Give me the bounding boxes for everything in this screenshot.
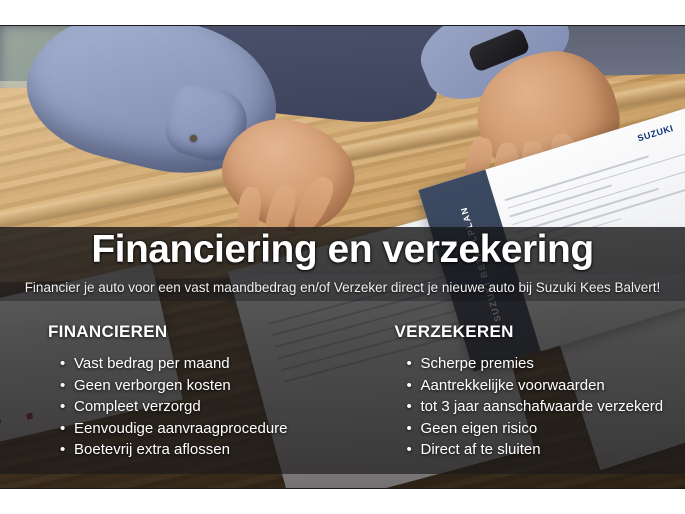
suzuki-logo-text: SUZUKI <box>636 123 674 143</box>
white-band-top <box>0 0 685 25</box>
list-item: Direct af te sluiten <box>407 439 685 461</box>
cuff-button-icon <box>190 135 197 142</box>
column-heading-financieren: FINANCIEREN <box>48 322 343 342</box>
banner-subtitle: Financier je auto voor een vast maandbed… <box>0 280 685 296</box>
column-heading-verzekeren: VERZEKEREN <box>395 322 685 342</box>
list-item: Geen verborgen kosten <box>60 375 343 397</box>
divider-top <box>0 25 685 26</box>
column-financieren: FINANCIEREN Vast bedrag per maand Geen v… <box>0 322 343 461</box>
feature-list-financieren: Vast bedrag per maand Geen verborgen kos… <box>48 353 343 461</box>
list-item: Boetevrij extra aflossen <box>60 439 343 461</box>
white-band-bottom <box>0 489 685 514</box>
list-item: tot 3 jaar aanschafwaarde verzekerd <box>407 396 685 418</box>
feature-columns: FINANCIEREN Vast bedrag per maand Geen v… <box>0 322 685 461</box>
column-verzekeren: VERZEKEREN Scherpe premies Aantrekkelijk… <box>343 322 685 461</box>
list-item: Geen eigen risico <box>407 418 685 440</box>
promo-banner: SUZUKI SUZUKI BETAALPLAN SUZUKI <box>0 0 685 514</box>
feature-list-verzekeren: Scherpe premies Aantrekkelijke voorwaard… <box>395 353 685 461</box>
list-item: Scherpe premies <box>407 353 685 375</box>
list-item: Vast bedrag per maand <box>60 353 343 375</box>
banner-title: Financiering en verzekering <box>0 228 685 272</box>
list-item: Eenvoudige aanvraagprocedure <box>60 418 343 440</box>
list-item: Compleet verzorgd <box>60 396 343 418</box>
list-item: Aantrekkelijke voorwaarden <box>407 375 685 397</box>
